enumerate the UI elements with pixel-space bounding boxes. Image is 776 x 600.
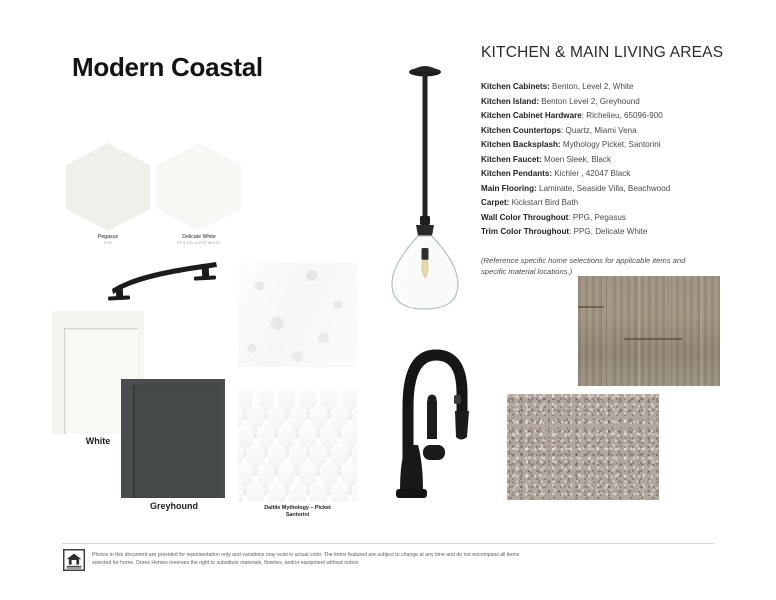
- plank-seam: [624, 338, 682, 340]
- spec-row: Kitchen Backsplash: Mythology Picket, Sa…: [481, 138, 761, 153]
- selection-board-page: Modern Coastal KITCHEN & MAIN LIVING ARE…: [0, 0, 776, 600]
- spec-row: Kitchen Countertops: Quartz, Miami Vena: [481, 124, 761, 139]
- spec-label: Kitchen Island:: [481, 97, 539, 106]
- footer-disclaimer: Photos in this document are provided for…: [92, 551, 532, 567]
- spec-row: Trim Color Throughout: PPG, Delicate Whi…: [481, 225, 761, 240]
- spec-value: : Quartz, Miami Vena: [561, 126, 637, 135]
- spec-label: Kitchen Cabinet Hardware: [481, 111, 582, 120]
- spec-value: : Richelieu, 65096-900: [582, 111, 663, 120]
- swatch-sub-text: PPG DELICATE WHITE: [157, 241, 241, 245]
- spec-label: Kitchen Countertops: [481, 126, 561, 135]
- picket-tile-swatch: [238, 388, 357, 502]
- spec-value: : PPG, Pegasus: [568, 213, 626, 222]
- paint-swatch-delicate-white: [157, 143, 241, 231]
- spec-value: Kichler , 42047 Black: [552, 169, 630, 178]
- spec-label: Kitchen Backsplash:: [481, 140, 561, 149]
- spec-row: Kitchen Cabinet Hardware: Richelieu, 650…: [481, 109, 761, 124]
- spec-value: : PPG, Delicate White: [569, 227, 647, 236]
- carpet-swatch: [507, 394, 659, 500]
- footer-divider: [62, 543, 714, 544]
- picket-tile-label: Daltile Mythology – Picket Santorini: [238, 505, 357, 519]
- spec-row: Kitchen Island: Benton Level 2, Greyhoun…: [481, 95, 761, 110]
- spec-row: Carpet: Kickstart Bird Bath: [481, 196, 761, 211]
- page-title: Modern Coastal: [72, 52, 263, 83]
- spec-row: Kitchen Faucet: Moen Sleek, Black: [481, 153, 761, 168]
- paint-swatch-delicate-white-label: Delicate White PPG DELICATE WHITE: [157, 234, 241, 245]
- spec-value: Kickstart Bird Bath: [509, 198, 578, 207]
- door-panel: [133, 385, 219, 498]
- spec-label: Kitchen Faucet:: [481, 155, 542, 164]
- spec-value: Benton, Level 2, White: [550, 82, 634, 91]
- section-heading: KITCHEN & MAIN LIVING AREAS: [481, 44, 723, 62]
- spec-label: Kitchen Cabinets:: [481, 82, 550, 91]
- spec-value: Mythology Picket, Santorini: [561, 140, 661, 149]
- hexagon-shape: [157, 143, 241, 231]
- swatch-label-text: Delicate White: [182, 234, 215, 240]
- kitchen-faucet-icon: [392, 341, 482, 506]
- spec-value: Moen Sleek, Black: [542, 155, 611, 164]
- spec-label: Wall Color Throughout: [481, 213, 568, 222]
- spec-row: Wall Color Throughout: PPG, Pegasus: [481, 211, 761, 226]
- greyhound-cabinet-door-label: Greyhound: [128, 501, 220, 511]
- picket-tile-label-line2: Santorini: [286, 512, 309, 518]
- paint-swatch-pegasus: [66, 143, 150, 231]
- paint-swatch-pegasus-label: Pegasus PPG: [66, 234, 150, 245]
- spec-label: Trim Color Throughout: [481, 227, 569, 236]
- spec-value: Benton Level 2, Greyhound: [539, 97, 640, 106]
- laminate-flooring-swatch: [578, 276, 720, 386]
- quartz-countertop-swatch: [238, 263, 357, 367]
- hexagon-shape: [66, 143, 150, 231]
- reference-note: (Reference specific home selections for …: [481, 255, 711, 277]
- specification-list: Kitchen Cabinets: Benton, Level 2, White…: [481, 80, 761, 240]
- picket-tile-label-line1: Daltile Mythology – Picket: [264, 505, 331, 511]
- cabinet-hardware-pull-icon: [104, 256, 224, 304]
- plank-seam: [578, 306, 604, 308]
- swatch-sub-text: PPG: [66, 241, 150, 245]
- spec-label: Carpet:: [481, 198, 509, 207]
- spec-row: Main Flooring: Laminate, Seaside Villa, …: [481, 182, 761, 197]
- spec-row: Kitchen Cabinets: Benton, Level 2, White: [481, 80, 761, 95]
- equal-housing-opportunity-logo-icon: [63, 549, 85, 571]
- greyhound-cabinet-door-swatch: [121, 379, 225, 498]
- spec-label: Main Flooring:: [481, 184, 537, 193]
- swatch-label-text: Pegasus: [98, 234, 118, 240]
- spec-value: Laminate, Seaside Villa, Beachwood: [537, 184, 670, 193]
- spec-row: Kitchen Pendants: Kichler , 42047 Black: [481, 167, 761, 182]
- spec-label: Kitchen Pendants:: [481, 169, 552, 178]
- pendant-light-icon: [372, 58, 478, 313]
